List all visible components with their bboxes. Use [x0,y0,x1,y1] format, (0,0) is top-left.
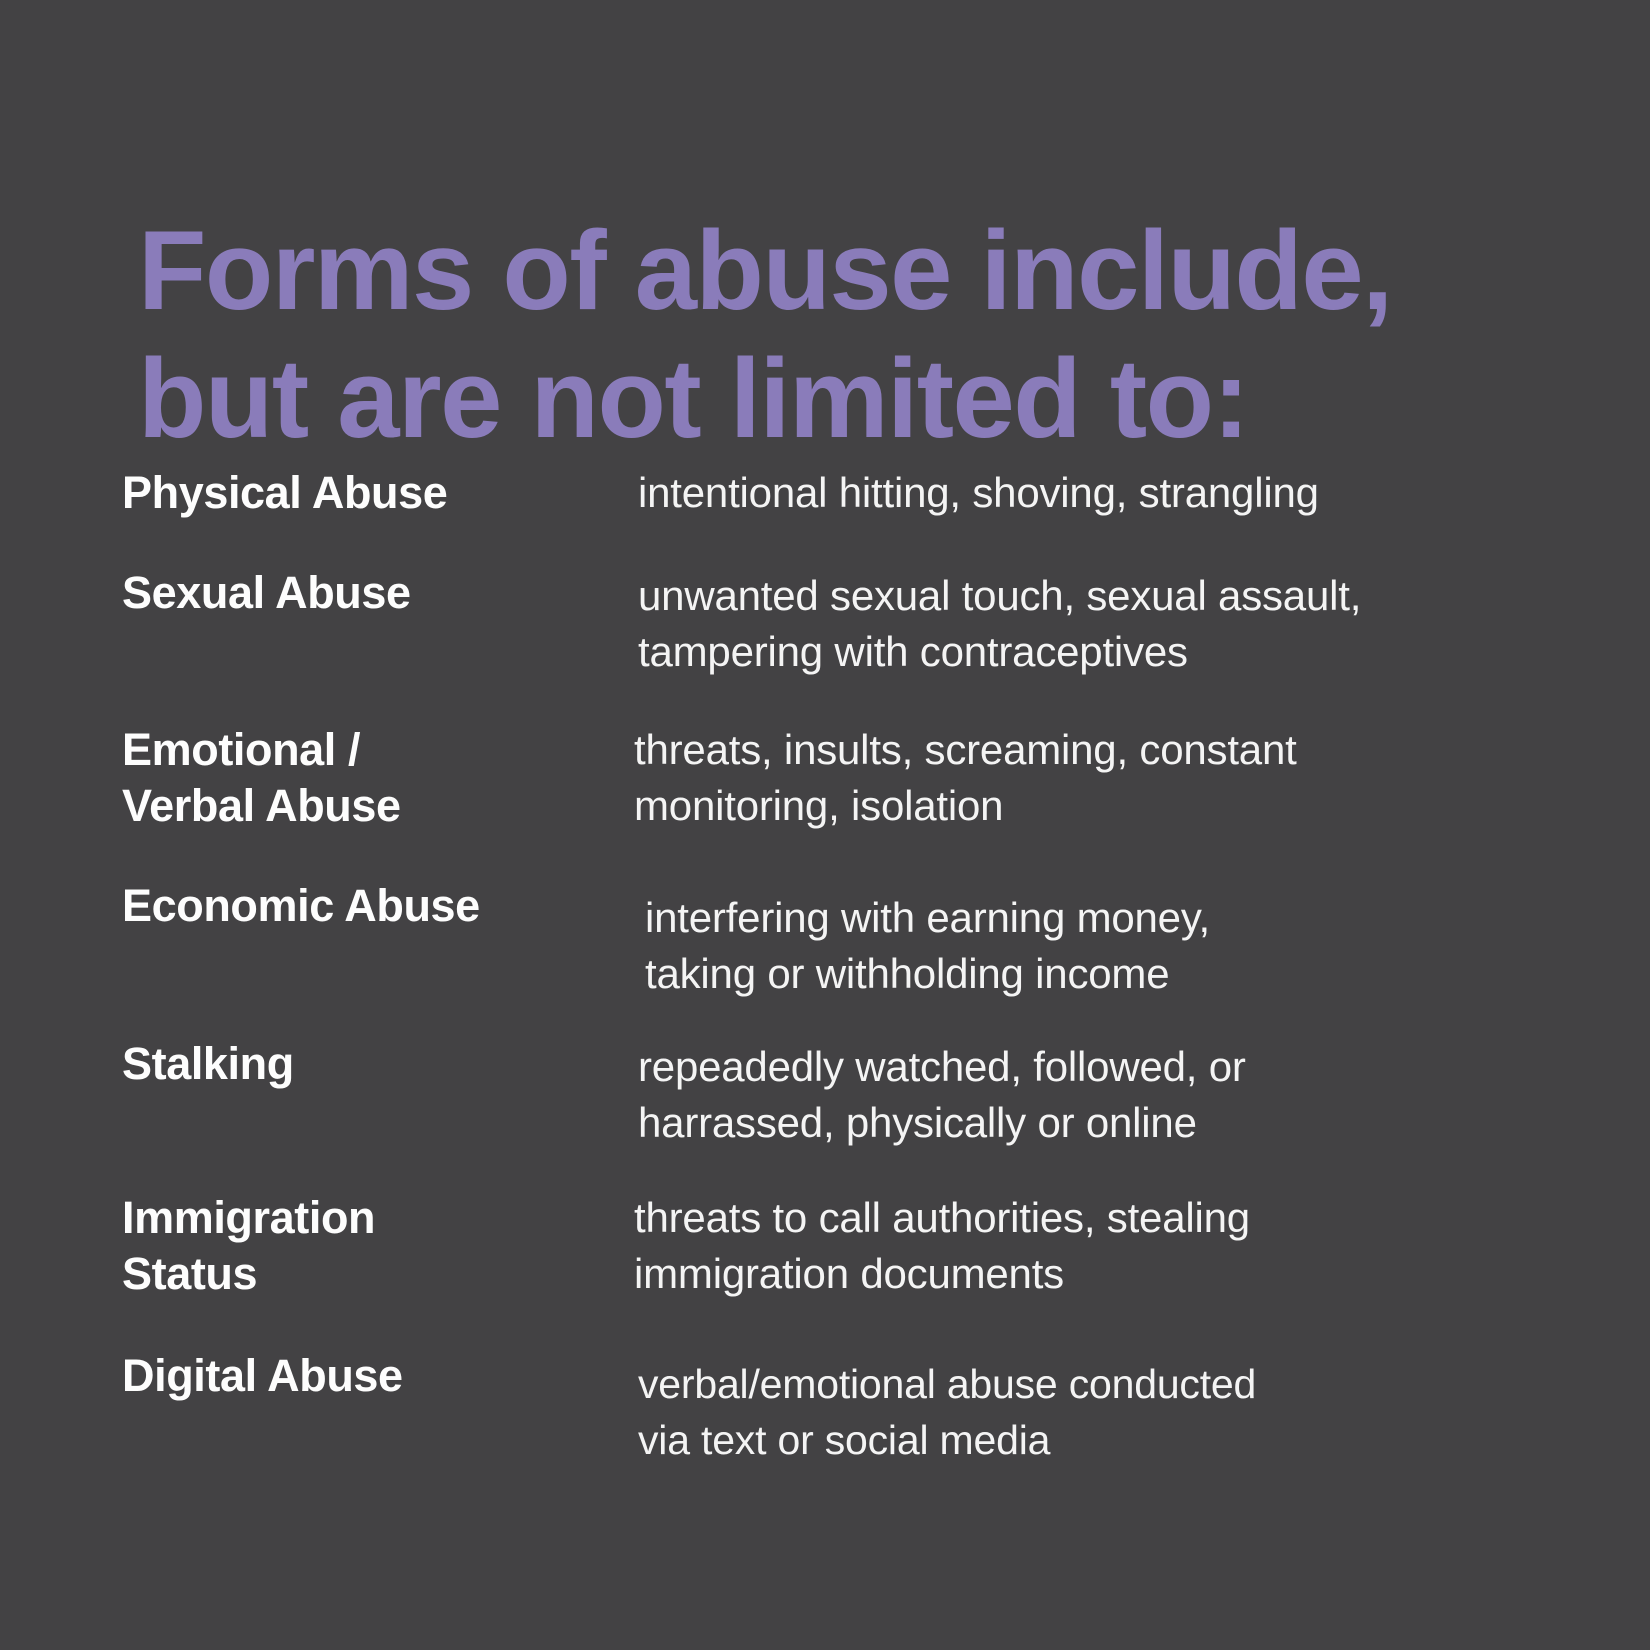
abuse-type-description: interfering with earning money, taking o… [645,890,1505,1002]
abuse-type-label: Immigration Status [122,1190,622,1302]
abuse-type-description: threats, insults, screaming, constant mo… [634,722,1494,834]
abuse-type-label: Physical Abuse [122,465,622,521]
abuse-type-label: Economic Abuse [122,878,622,934]
abuse-type-description: intentional hitting, shoving, strangling [638,465,1498,521]
abuse-type-label: Emotional / Verbal Abuse [122,722,622,834]
abuse-type-label: Digital Abuse [122,1348,622,1404]
abuse-type-label: Sexual Abuse [122,565,622,621]
abuse-type-description: verbal/emotional abuse conducted via tex… [638,1356,1498,1468]
abuse-type-description: repeadedly watched, followed, or harrass… [638,1039,1498,1151]
infographic-slide: Forms of abuse include, but are not limi… [0,0,1650,1650]
abuse-type-description: threats to call authorities, stealing im… [634,1190,1494,1302]
abuse-type-label: Stalking [122,1036,622,1092]
abuse-type-description: unwanted sexual touch, sexual assault, t… [638,568,1498,680]
abuse-forms-list: Physical Abuse intentional hitting, shov… [0,0,1650,1650]
